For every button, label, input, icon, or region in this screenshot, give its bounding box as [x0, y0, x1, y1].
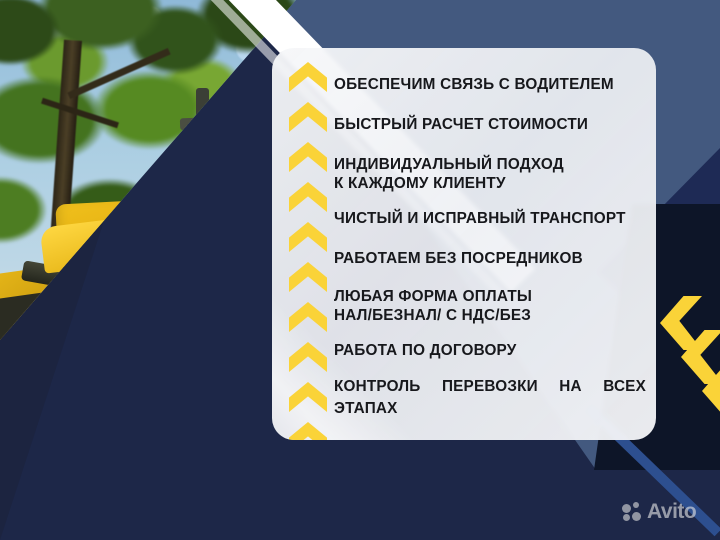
cab-window — [194, 131, 244, 251]
tie-down-strap — [38, 350, 155, 388]
exhaust-stack — [196, 88, 209, 128]
wheel-lug — [219, 449, 226, 456]
chevron-up-icon — [289, 62, 327, 92]
trailer-front-block — [0, 402, 89, 472]
trailer-wheel — [54, 428, 142, 516]
trailer-wheel — [196, 424, 282, 510]
machine-fender — [116, 296, 260, 384]
wheel-lug — [78, 454, 85, 461]
trailer-wheel-rim — [74, 448, 122, 496]
road-seam — [0, 475, 340, 487]
wheel-lug — [219, 479, 226, 486]
chevron-up-icon — [289, 342, 327, 372]
chevron-up-icon — [289, 262, 327, 292]
benefits-card: ОБЕСПЕЧИМ СВЯЗЬ С ВОДИТЕЛЕМБЫСТРЫЙ РАСЧЕ… — [272, 48, 656, 440]
machine-wheel-hub — [170, 350, 196, 376]
chevron-up-icon — [289, 102, 327, 132]
avito-dots-icon — [622, 502, 642, 522]
trailer-wheel-hub — [88, 462, 108, 482]
benefit-line: ЧИСТЫЙ И ИСПРАВНЫЙ ТРАНСПОРТ — [334, 210, 646, 229]
benefits-list: ОБЕСПЕЧИМ СВЯЗЬ С ВОДИТЕЛЕМБЫСТРЫЙ РАСЧЕ… — [334, 48, 646, 440]
machine-body — [55, 195, 235, 312]
machine-wheel-rim — [152, 332, 214, 394]
promo-banner: JCB — [0, 0, 720, 540]
benefit-line: БЫСТРЫЙ РАСЧЕТ СТОИМОСТИ — [334, 116, 646, 135]
chevron-column — [280, 48, 336, 440]
benefit-line: ИНДИВИДУАЛЬНЫЙ ПОДХОД К КАЖДОМУ КЛИЕНТУ — [334, 156, 646, 193]
chevron-up-icon — [289, 422, 327, 440]
benefit-line: РАБОТАЕМ БЕЗ ПОСРЕДНИКОВ — [334, 250, 646, 269]
cab-pillar — [243, 124, 259, 309]
avito-watermark: Avito — [622, 502, 696, 522]
trailer-wheel-rim — [214, 442, 264, 492]
wheel-lug — [251, 479, 258, 486]
chevron-up-icon — [289, 302, 327, 332]
benefit-line: ЛЮБАЯ ФОРМА ОПЛАТЫ НАЛ/БЕЗНАЛ/ С НДС/БЕЗ — [334, 288, 646, 325]
wheel-lug — [78, 484, 85, 491]
machine-wheel — [120, 300, 246, 426]
wheel-lug — [110, 484, 117, 491]
loader-bucket-edge — [0, 291, 59, 353]
chevron-up-icon — [289, 382, 327, 412]
trailer-marker-lamp — [8, 418, 34, 430]
trailer-wheel-hub — [229, 457, 249, 477]
chevron-up-icon — [289, 182, 327, 212]
benefit-line: ЭТАПАХ — [334, 400, 646, 419]
trailer-frame — [0, 395, 290, 441]
chevron-up-icon — [289, 142, 327, 172]
jcb-logo: JCB — [148, 228, 209, 263]
avito-wordmark: Avito — [647, 502, 696, 522]
tie-down-strap — [97, 353, 186, 376]
chevron-up-icon — [289, 222, 327, 252]
benefit-line: ОБЕСПЕЧИМ СВЯЗЬ С ВОДИТЕЛЕМ — [334, 76, 646, 95]
wheel-lug — [251, 449, 258, 456]
wheel-lug — [110, 454, 117, 461]
benefit-line: РАБОТА ПО ДОГОВОРУ — [334, 342, 646, 361]
